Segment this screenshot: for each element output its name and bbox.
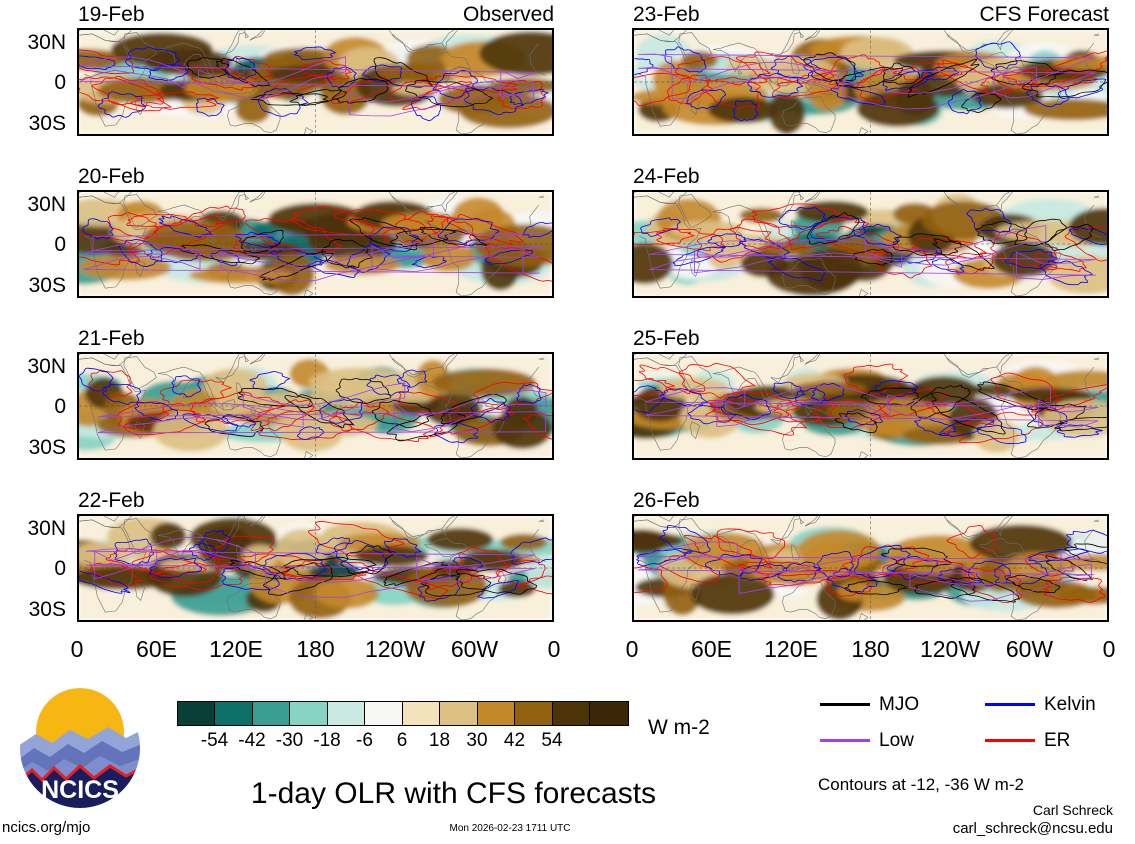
legend-label-mjo: MJO xyxy=(879,695,919,714)
author-name: Carl Schreck xyxy=(813,803,1113,817)
legend-item-kelvin: Kelvin xyxy=(985,695,1096,714)
figure-root: 19-FebObserved30N030S20-Feb30N030S21-Feb… xyxy=(0,0,1135,844)
wave-legend: MJO Kelvin Low ER Contours at -12, -36 W… xyxy=(0,0,1135,844)
legend-label-low: Low xyxy=(879,731,914,750)
legend-label-kelvin: Kelvin xyxy=(1044,695,1096,714)
legend-item-mjo: MJO xyxy=(820,695,919,714)
legend-swatch-low xyxy=(820,739,870,742)
legend-item-er: ER xyxy=(985,731,1070,750)
legend-swatch-er xyxy=(985,739,1035,742)
legend-label-er: ER xyxy=(1044,731,1070,750)
legend-item-low: Low xyxy=(820,731,914,750)
legend-swatch-mjo xyxy=(820,703,870,706)
contour-note: Contours at -12, -36 W m-2 xyxy=(818,776,1024,793)
author-email[interactable]: carl_schreck@ncsu.edu xyxy=(813,822,1113,836)
legend-swatch-kelvin xyxy=(985,703,1035,706)
